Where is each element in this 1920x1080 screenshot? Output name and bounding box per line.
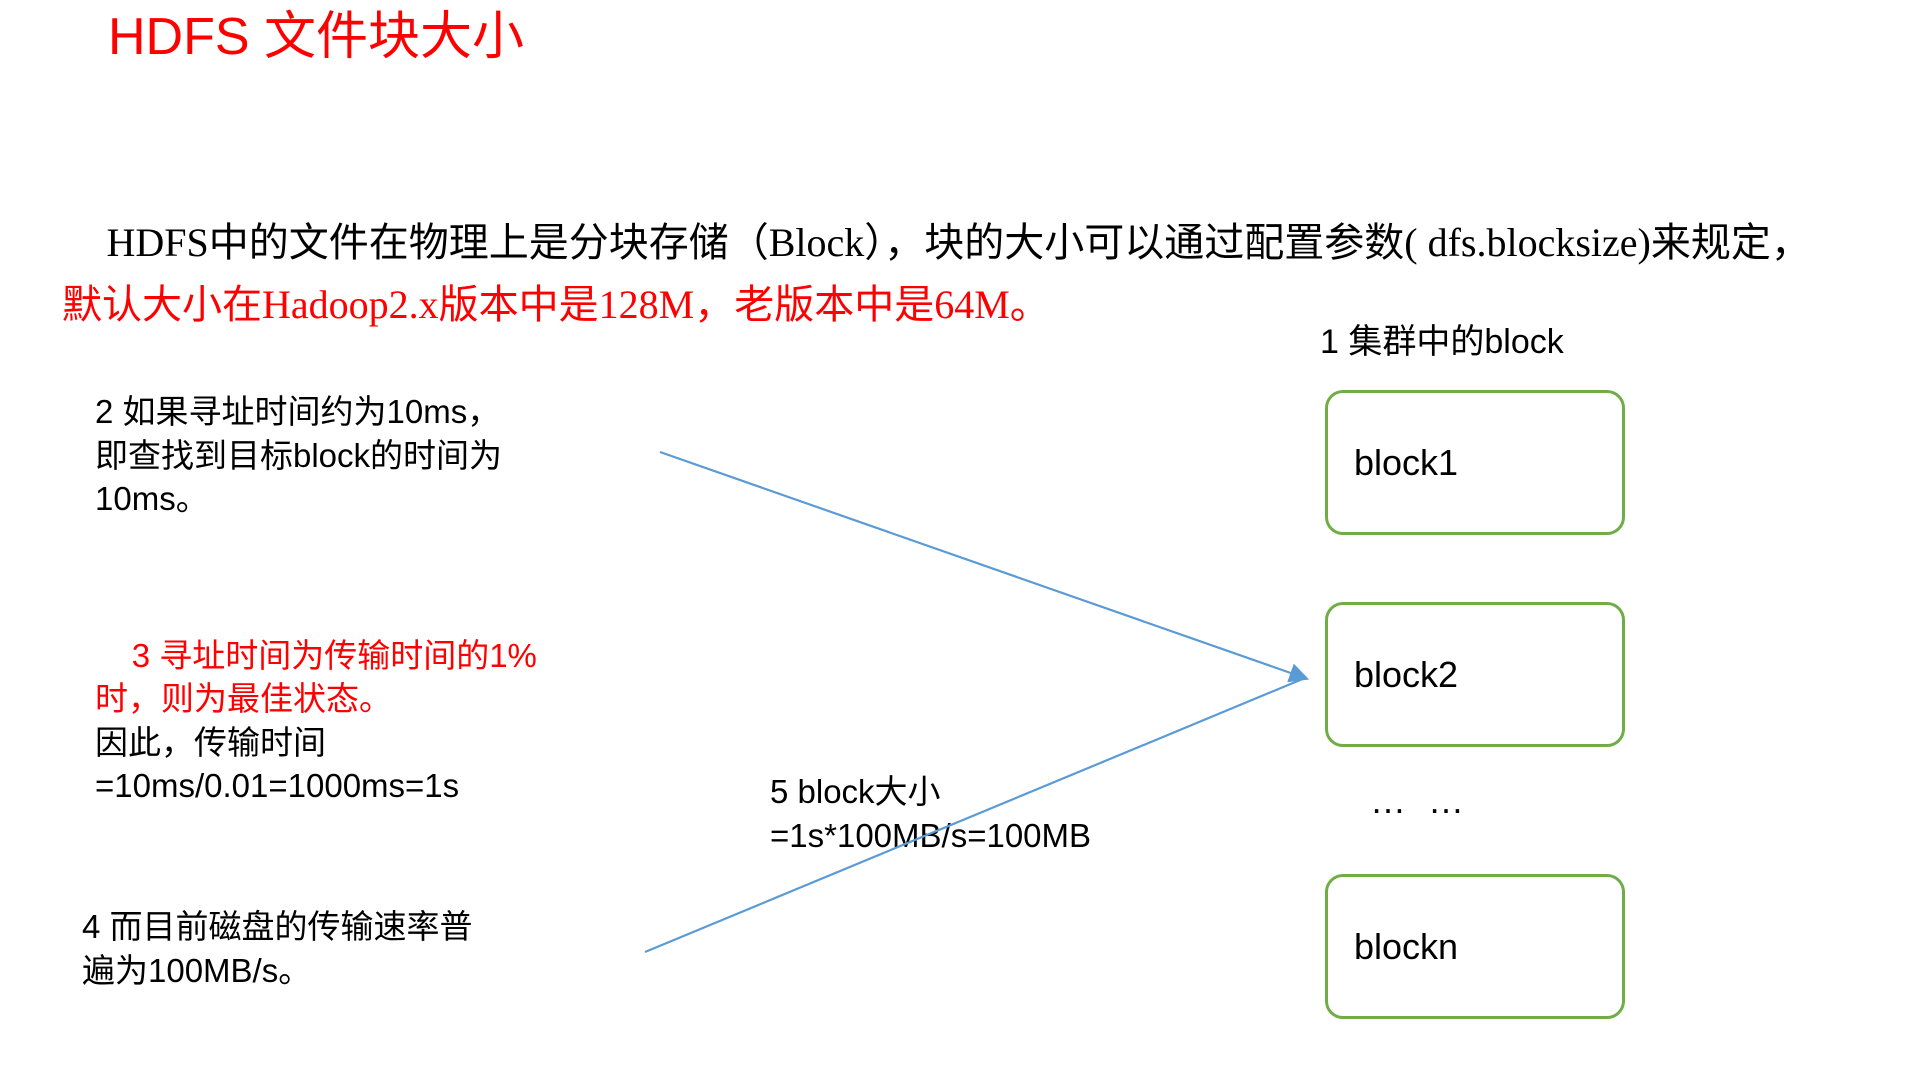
note-3-black-text: 因此，传输时间 =10ms/0.01=1000ms=1s — [95, 724, 459, 805]
slide-canvas: HDFS 文件块大小 HDFS中的文件在物理上是分块存储（Block），块的大小… — [0, 0, 1920, 1080]
body-seg-2: 中的文件在物理上是分块存储（ — [209, 221, 769, 265]
note-block-size-calc: 5 block大小 =1s*100MB/s=100MB — [770, 770, 1240, 857]
block-ellipsis: … … — [1370, 780, 1470, 822]
note-optimal-ratio: 3 寻址时间为传输时间的1% 时，则为最佳状态。 因此，传输时间 =10ms/0… — [95, 590, 675, 851]
body-seg-hadoop-version: Hadoop2.x — [262, 282, 439, 327]
body-seg-9-red: 版本中是 — [439, 283, 599, 327]
body-seg-4: ），块的大小可以通过配置参数 — [864, 221, 1404, 265]
body-seg-13-red: 。 — [1010, 283, 1050, 327]
body-seg-hdfs: HDFS — [106, 220, 208, 265]
block-box-2[interactable]: block2 — [1325, 602, 1625, 747]
body-seg-block: Block — [769, 220, 865, 265]
note-disk-throughput: 4 而目前磁盘的传输速率普 遍为100MB/s。 — [82, 905, 622, 992]
block-label-1: block1 — [1354, 442, 1458, 484]
note-cluster-blocks: 1 集群中的block — [1320, 320, 1564, 365]
body-seg-6: 来规定， — [1651, 221, 1811, 265]
block-label-3: blockn — [1354, 926, 1458, 968]
body-seg-dfs-blocksize: ( dfs.blocksize) — [1404, 220, 1651, 265]
body-seg-128m: 128M — [599, 282, 695, 327]
note-seek-time: 2 如果寻址时间约为10ms， 即查找到目标block的时间为 10ms。 — [95, 390, 655, 521]
connector-top — [660, 452, 1305, 678]
block-box-1[interactable]: block1 — [1325, 390, 1625, 535]
block-label-2: block2 — [1354, 654, 1458, 696]
body-seg-7-red: 默认大小在 — [62, 283, 262, 327]
block-box-3[interactable]: blockn — [1325, 874, 1625, 1019]
page-title: HDFS 文件块大小 — [108, 8, 524, 68]
body-seg-11-red: ，老版本中是 — [694, 283, 934, 327]
body-seg-64m: 64M — [934, 282, 1010, 327]
note-3-red-text: 3 寻址时间为传输时间的1% 时，则为最佳状态。 — [95, 637, 537, 718]
